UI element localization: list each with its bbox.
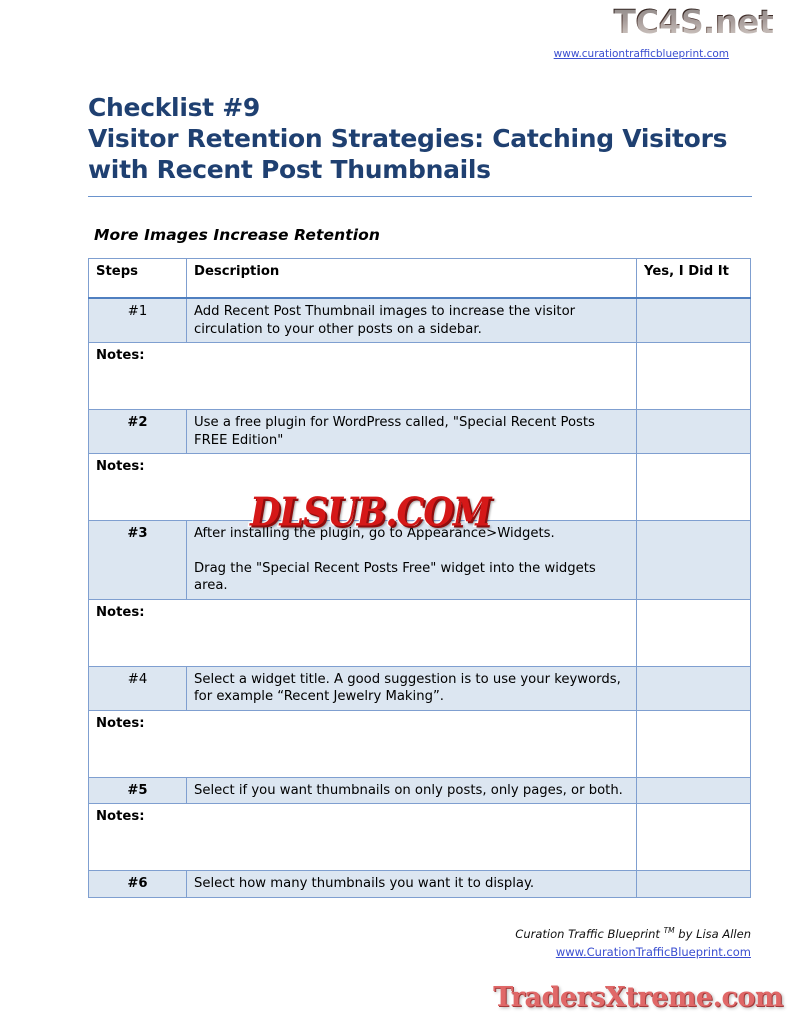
step-description-cell: Use a free plugin for WordPress called, … (187, 410, 637, 454)
notes-checkbox-cell[interactable] (637, 343, 751, 410)
column-header-steps: Steps (89, 259, 187, 299)
step-checkbox-cell[interactable] (637, 521, 751, 600)
notes-input-area[interactable] (187, 804, 637, 871)
footer-credit-author: by Lisa Allen (675, 927, 751, 941)
notes-row: Notes: (89, 454, 751, 521)
page-title: Checklist #9 Visitor Retention Strategie… (88, 92, 753, 197)
notes-checkbox-cell[interactable] (637, 804, 751, 871)
tradersxtreme-watermark: TradersXtreme.com (493, 982, 783, 1013)
footer-credit-line: Curation Traffic Blueprint TM by Lisa Al… (0, 926, 751, 941)
title-line-1: Checklist #9 (88, 92, 753, 123)
table-row: #2Use a free plugin for WordPress called… (89, 410, 751, 454)
notes-label: Notes: (89, 343, 187, 410)
table-row: #6Select how many thumbnails you want it… (89, 871, 751, 898)
notes-input-area[interactable] (187, 343, 637, 410)
notes-checkbox-cell[interactable] (637, 599, 751, 666)
column-header-description: Description (187, 259, 637, 299)
step-description-paragraph: Add Recent Post Thumbnail images to incr… (194, 303, 629, 338)
notes-checkbox-cell[interactable] (637, 710, 751, 777)
notes-row: Notes: (89, 710, 751, 777)
step-description-cell: Select if you want thumbnails on only po… (187, 777, 637, 804)
step-description-paragraph: Select a widget title. A good suggestion… (194, 671, 629, 706)
checklist-table-body: Steps Description Yes, I Did It #1Add Re… (89, 259, 751, 898)
step-description-paragraph: Select how many thumbnails you want it t… (194, 875, 629, 893)
notes-row: Notes: (89, 599, 751, 666)
notes-row: Notes: (89, 343, 751, 410)
title-line-2: Visitor Retention Strategies: Catching V… (88, 123, 753, 154)
notes-label: Notes: (89, 599, 187, 666)
step-checkbox-cell[interactable] (637, 666, 751, 710)
table-header-row: Steps Description Yes, I Did It (89, 259, 751, 299)
step-description-paragraph: Use a free plugin for WordPress called, … (194, 414, 629, 449)
page-header: TC4S.net www.curationtrafficblueprint.co… (0, 0, 791, 78)
step-checkbox-cell[interactable] (637, 777, 751, 804)
notes-label: Notes: (89, 454, 187, 521)
step-checkbox-cell[interactable] (637, 871, 751, 898)
step-description-paragraph: Select if you want thumbnails on only po… (194, 782, 629, 800)
notes-input-area[interactable] (187, 710, 637, 777)
step-checkbox-cell[interactable] (637, 410, 751, 454)
step-description-cell: After installing the plugin, go to Appea… (187, 521, 637, 600)
notes-row: Notes: (89, 804, 751, 871)
step-description-paragraph: Drag the "Special Recent Posts Free" wid… (194, 560, 629, 595)
header-site-url-link[interactable]: www.curationtrafficblueprint.com (554, 48, 729, 60)
page-footer: Curation Traffic Blueprint TM by Lisa Al… (0, 926, 751, 960)
footer-credit-title: Curation Traffic Blueprint (515, 927, 663, 941)
step-description-cell: Add Recent Post Thumbnail images to incr… (187, 298, 637, 343)
table-row: #5Select if you want thumbnails on only … (89, 777, 751, 804)
column-header-yes-i-did-it: Yes, I Did It (637, 259, 751, 299)
step-number-cell: #2 (89, 410, 187, 454)
notes-label: Notes: (89, 804, 187, 871)
table-row: #1Add Recent Post Thumbnail images to in… (89, 298, 751, 343)
trademark-mark: TM (664, 926, 675, 935)
notes-input-area[interactable] (187, 599, 637, 666)
table-row: #4Select a widget title. A good suggesti… (89, 666, 751, 710)
title-divider-rule (88, 196, 752, 197)
title-line-3: with Recent Post Thumbnails (88, 154, 753, 185)
step-checkbox-cell[interactable] (637, 298, 751, 343)
table-row: #3After installing the plugin, go to App… (89, 521, 751, 600)
step-description-paragraph: After installing the plugin, go to Appea… (194, 525, 629, 543)
step-number-cell: #5 (89, 777, 187, 804)
step-number-cell: #1 (89, 298, 187, 343)
tc4s-logo-watermark: TC4S.net (613, 2, 773, 41)
section-subtitle: More Images Increase Retention (94, 226, 380, 244)
step-description-cell: Select a widget title. A good suggestion… (187, 666, 637, 710)
notes-label: Notes: (89, 710, 187, 777)
step-number-cell: #6 (89, 871, 187, 898)
footer-site-url-link[interactable]: www.CurationTrafficBlueprint.com (556, 945, 751, 959)
step-description-cell: Select how many thumbnails you want it t… (187, 871, 637, 898)
notes-input-area[interactable] (187, 454, 637, 521)
step-number-cell: #3 (89, 521, 187, 600)
checklist-table: Steps Description Yes, I Did It #1Add Re… (88, 258, 751, 898)
notes-checkbox-cell[interactable] (637, 454, 751, 521)
step-number-cell: #4 (89, 666, 187, 710)
